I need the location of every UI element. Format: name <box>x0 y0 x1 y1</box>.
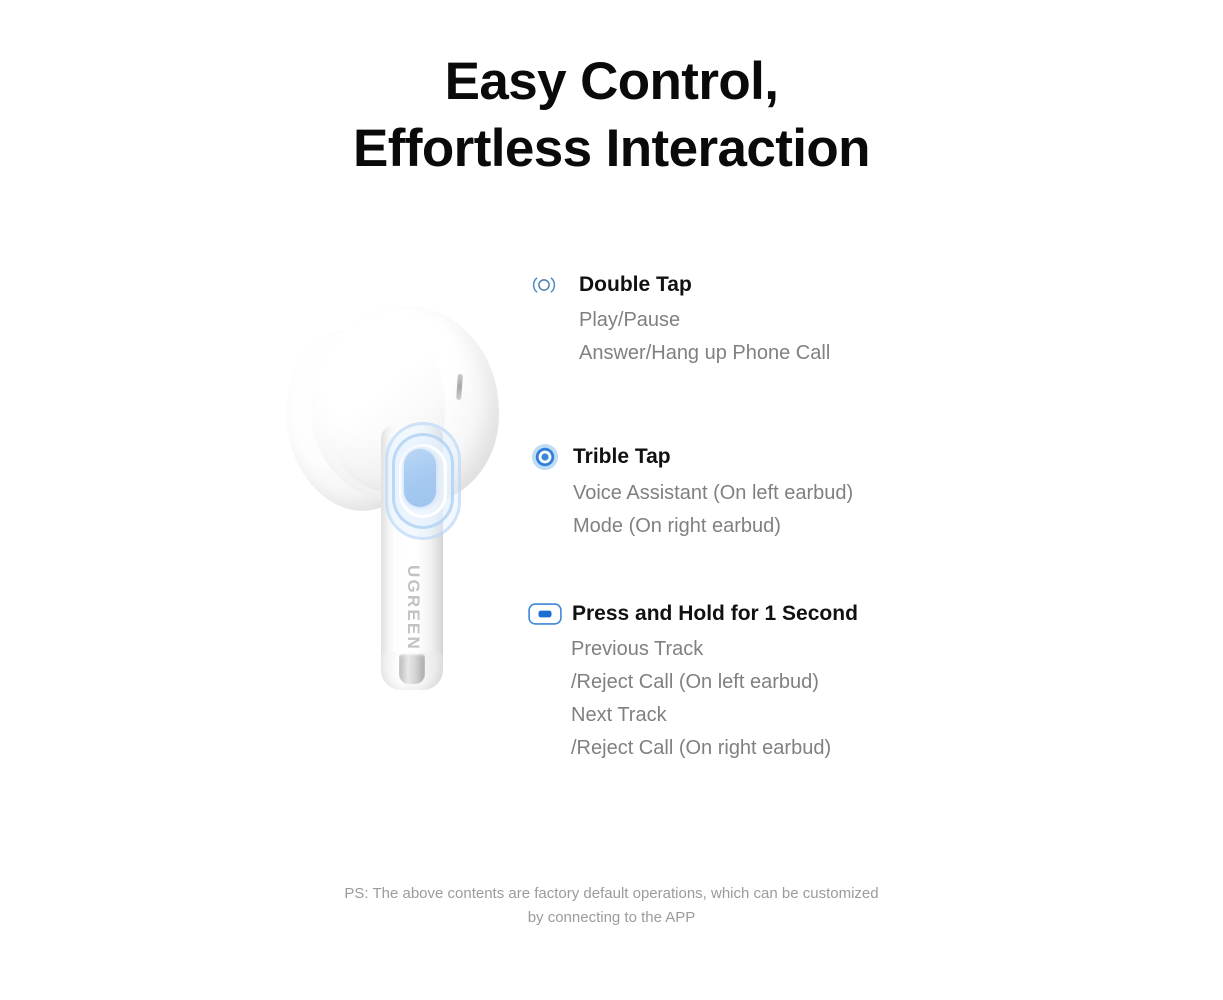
feature-trible-tap: Trible Tap Voice Assistant (On left earb… <box>531 443 853 543</box>
feature-detail-line: /Reject Call (On left earbud) <box>571 666 858 699</box>
feature-detail-line: Answer/Hang up Phone Call <box>579 337 830 370</box>
feature-detail-line: /Reject Call (On right earbud) <box>571 732 858 765</box>
double-tap-ripple-icon <box>531 272 557 298</box>
feature-detail-line: Previous Track <box>571 633 858 666</box>
feature-header: Trible Tap <box>531 443 853 471</box>
feature-list: Double Tap Play/Pause Answer/Hang up Pho… <box>0 0 1223 1000</box>
feature-detail-line: Next Track <box>571 699 858 732</box>
feature-header: Press and Hold for 1 Second <box>528 601 858 627</box>
triple-tap-filled-circle-icon <box>531 443 559 471</box>
press-hold-pill-icon <box>528 603 562 625</box>
footnote-line-2: by connecting to the APP <box>0 906 1223 930</box>
footnote-disclaimer: PS: The above contents are factory defau… <box>0 882 1223 930</box>
feature-detail-lines: Voice Assistant (On left earbud) Mode (O… <box>573 477 853 543</box>
feature-title: Press and Hold for 1 Second <box>572 601 858 627</box>
feature-detail-line: Voice Assistant (On left earbud) <box>573 477 853 510</box>
footnote-line-1: PS: The above contents are factory defau… <box>0 882 1223 906</box>
feature-title: Trible Tap <box>573 444 671 470</box>
feature-title: Double Tap <box>579 272 692 298</box>
feature-detail-lines: Previous Track /Reject Call (On left ear… <box>571 633 858 765</box>
feature-detail-line: Play/Pause <box>579 304 830 337</box>
feature-double-tap: Double Tap Play/Pause Answer/Hang up Pho… <box>531 272 830 370</box>
product-infographic-page: Easy Control, Effortless Interaction UGR… <box>0 0 1223 1000</box>
feature-press-and-hold: Press and Hold for 1 Second Previous Tra… <box>528 601 858 765</box>
feature-header: Double Tap <box>531 272 830 298</box>
feature-detail-lines: Play/Pause Answer/Hang up Phone Call <box>579 304 830 370</box>
feature-detail-line: Mode (On right earbud) <box>573 510 853 543</box>
